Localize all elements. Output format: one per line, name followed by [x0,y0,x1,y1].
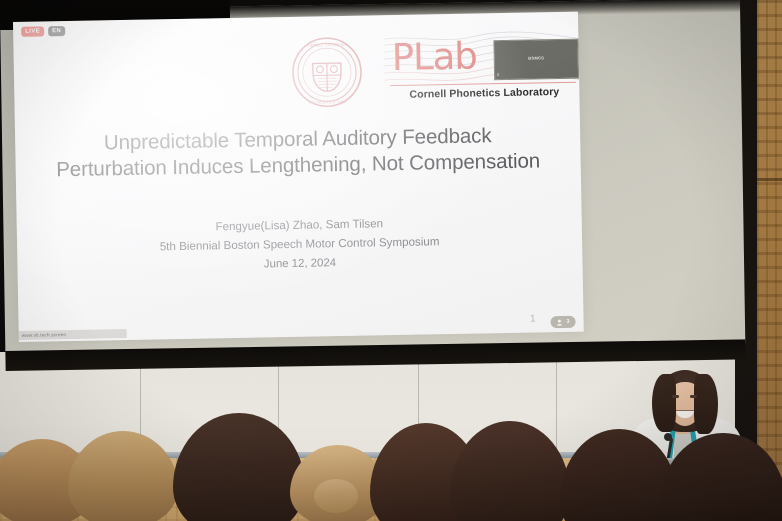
projected-slide: LIVE EN CORNELL UNIVERSITY FOUNDED A.D. … [13,12,584,342]
participants-count: 3 [566,319,569,325]
audience-row [0,391,782,521]
slide-watermark: www.vb.tech.screen [19,329,127,340]
cornell-university-seal-icon: CORNELL UNIVERSITY FOUNDED A.D. 1865 [290,36,363,109]
stream-badges: LIVE EN [21,26,65,37]
audience-hair-bun [314,479,358,513]
svg-text:FOUNDED A.D. 1865: FOUNDED A.D. 1865 [309,100,346,105]
svg-text:CORNELL UNIVERSITY: CORNELL UNIVERSITY [306,43,349,48]
plab-logo: PLab BSMCS 8 Cornell Phonetics Laborator… [383,30,580,112]
participants-badge[interactable]: 3 [550,316,575,328]
people-icon [556,318,563,325]
language-badge: EN [48,26,65,36]
audience-head [660,433,782,521]
live-badge: LIVE [21,26,44,36]
presentation-photo: LIVE EN CORNELL UNIVERSITY FOUNDED A.D. … [0,0,782,521]
slide-title: Unpredictable Temporal Auditory Feedback… [33,122,563,184]
slide-subtitle: Fengyue(Lisa) Zhao, Sam Tilsen 5th Bienn… [35,212,565,278]
audience-head [68,431,178,521]
slide-number: 1 [530,313,536,324]
video-tile-label: BSMCS [495,55,578,62]
plab-subtitle: Cornell Phonetics Laboratory [388,86,580,102]
plab-wordmark: PLab [391,38,477,77]
right-wall-seam [757,178,782,181]
video-tile-corner-label: 8 [497,72,499,77]
audience-head [173,413,305,521]
audience-head [450,421,570,521]
video-tile: BSMCS 8 [493,39,579,81]
